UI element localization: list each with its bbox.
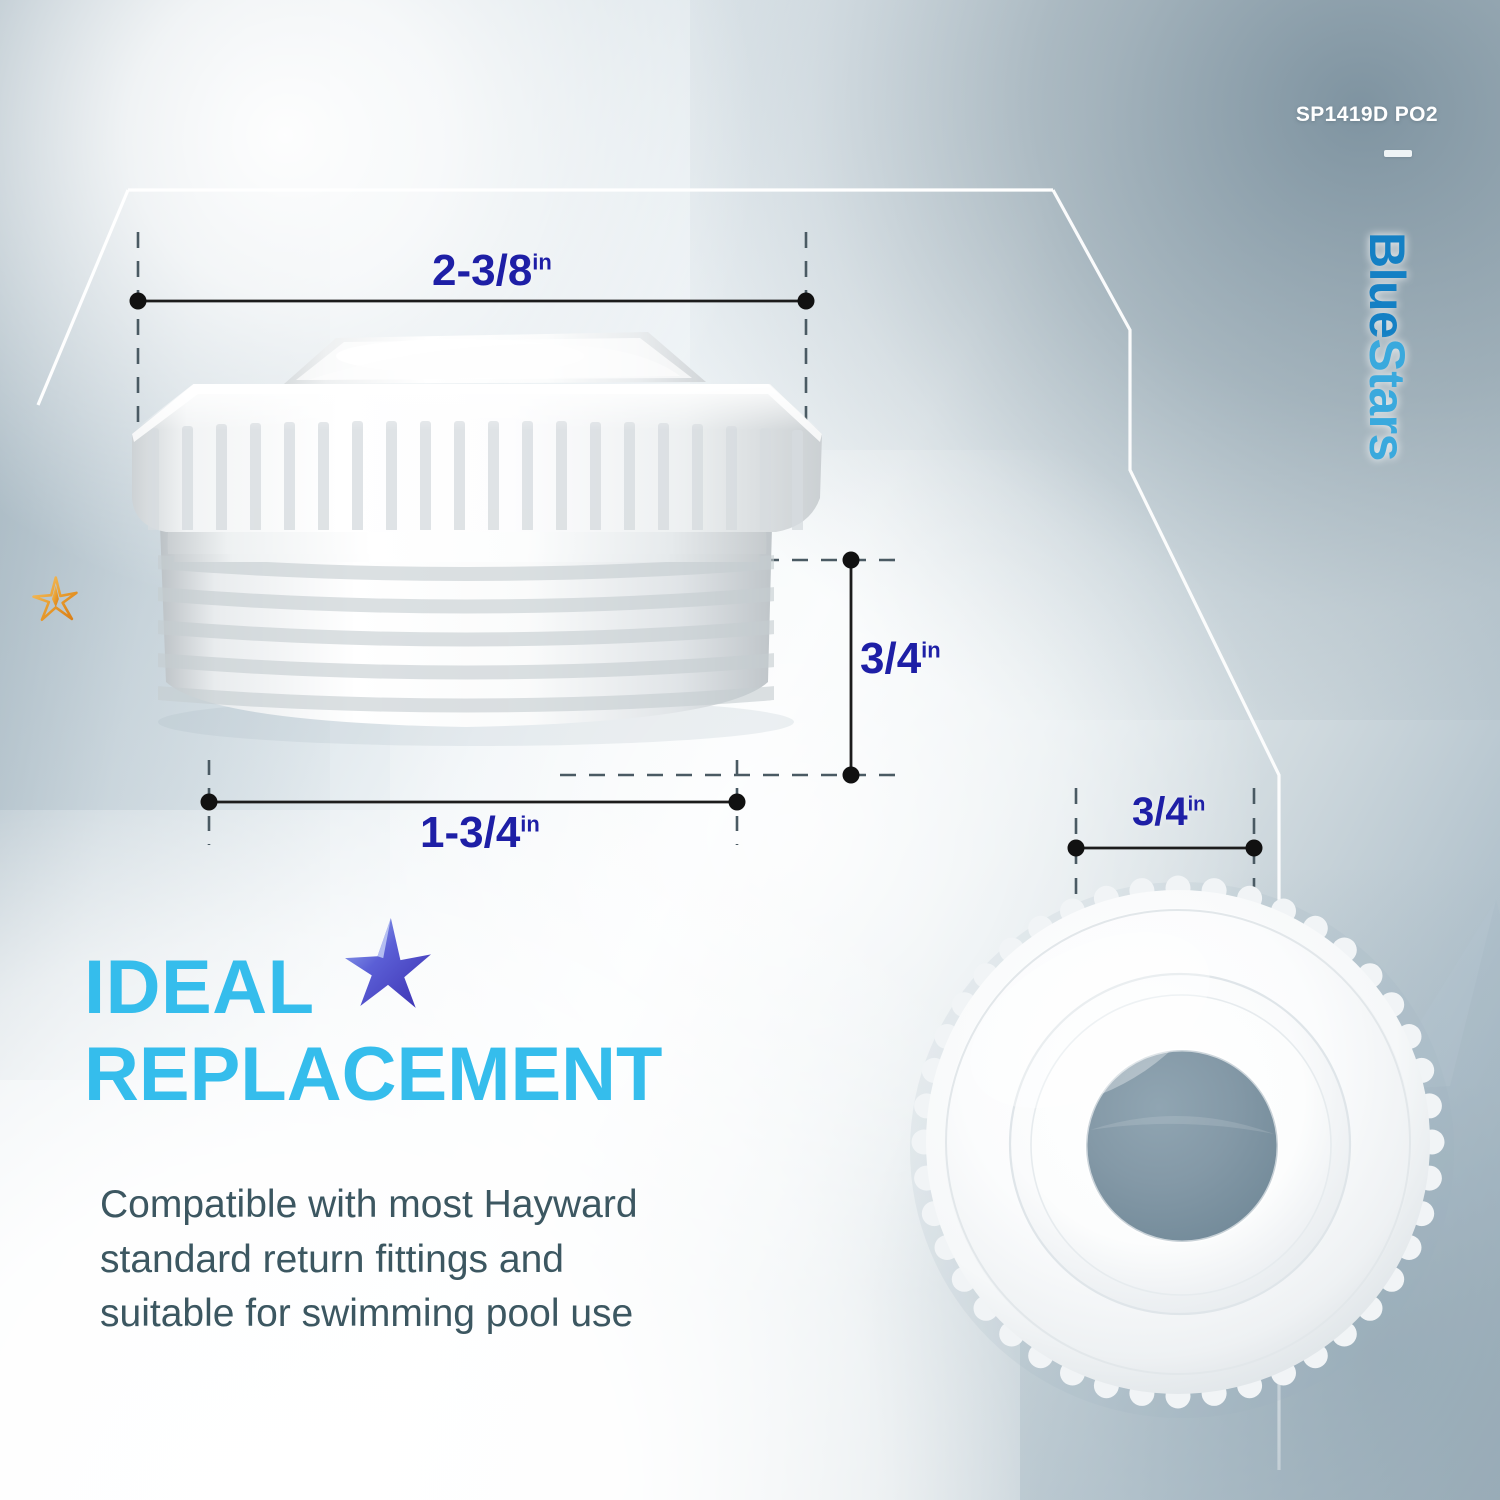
- dimension-label-bore-diameter: 3/4in: [1132, 790, 1205, 835]
- dimension-label-thread-length: 3/4in: [860, 634, 941, 684]
- dimension-label-thread-diameter: 1-3/4in: [420, 808, 540, 858]
- product-cone-top: [284, 332, 706, 384]
- subtitle: Compatible with most Hayward standard re…: [100, 1178, 860, 1342]
- headline: IDEAL REPLACEMENT: [84, 950, 662, 1112]
- subtitle-line-2: standard return fittings and: [100, 1233, 860, 1288]
- subtitle-line-3: suitable for swimming pool use: [100, 1287, 860, 1342]
- product-side-view: [120, 330, 850, 820]
- headline-line-2: REPLACEMENT: [84, 1037, 662, 1112]
- dimension-label-flange-diameter: 2-3/8in: [432, 246, 552, 296]
- product-front-view: [890, 850, 1470, 1430]
- product-knurled-flange: [120, 384, 850, 532]
- image-canvas: SP1419D PO2 BlueStars: [0, 0, 1500, 1500]
- subtitle-line-1: Compatible with most Hayward: [100, 1178, 860, 1233]
- headline-line-1: IDEAL: [84, 945, 315, 1030]
